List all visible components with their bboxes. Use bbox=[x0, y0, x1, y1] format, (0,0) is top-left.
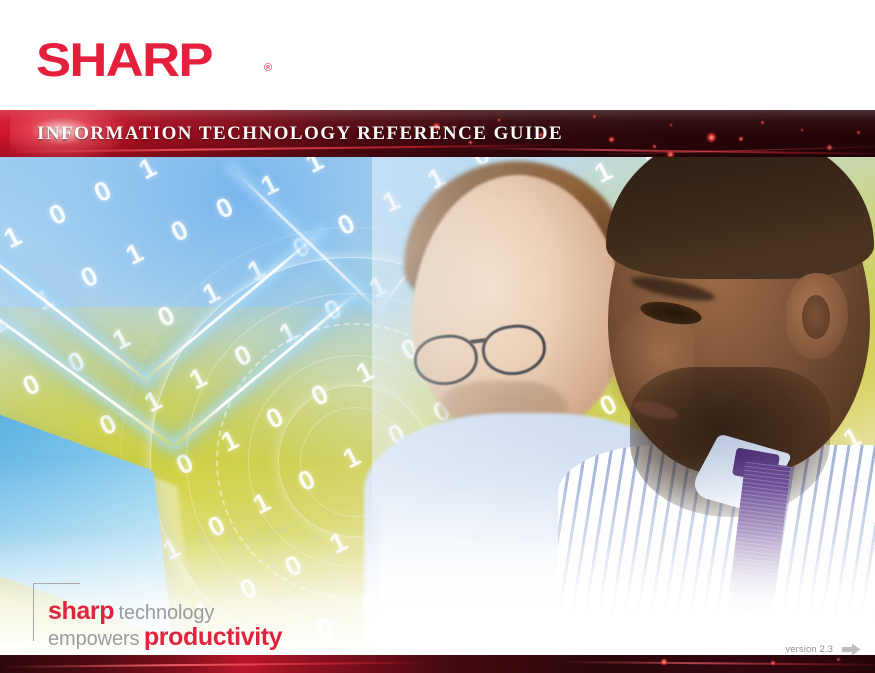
registered-trademark-icon: ® bbox=[264, 62, 272, 74]
banner-bokeh-dot bbox=[760, 120, 765, 125]
banner-bokeh-dot bbox=[706, 132, 717, 143]
footer-bokeh-dot bbox=[836, 657, 841, 662]
banner-bokeh-dot bbox=[652, 144, 657, 149]
sharp-logo: SHARP bbox=[36, 36, 212, 83]
hero-image: 1 0 1 0 0 1 1 0 1 0 0 1 0 1 1 0 0 1 1 0 … bbox=[0, 157, 875, 655]
version-label: version 2.3 bbox=[785, 644, 833, 655]
document-cover-page: SHARP ® INFORMATION TECHNOLOGY REFERENCE… bbox=[0, 0, 875, 673]
banner-bokeh-dot bbox=[669, 123, 673, 127]
banner-bokeh-dot bbox=[826, 144, 833, 151]
banner-light-streak bbox=[600, 146, 875, 155]
banner-bokeh-dot bbox=[738, 136, 744, 142]
footer-band bbox=[0, 655, 875, 673]
footer-bokeh-dot bbox=[660, 658, 668, 666]
footer-light-streak bbox=[560, 661, 875, 665]
footer-light-streak bbox=[0, 661, 430, 668]
banner-bokeh-dot bbox=[608, 136, 615, 143]
footer-bokeh-dot bbox=[770, 660, 776, 666]
hero-white-bloom bbox=[0, 457, 875, 655]
banner-bokeh-dot bbox=[592, 114, 597, 119]
banner-bokeh-dot bbox=[856, 130, 861, 135]
title-banner: INFORMATION TECHNOLOGY REFERENCE GUIDE bbox=[0, 110, 875, 158]
page-title: INFORMATION TECHNOLOGY REFERENCE GUIDE bbox=[37, 110, 563, 158]
ear-inner bbox=[802, 295, 830, 339]
banner-bokeh-dot bbox=[800, 128, 804, 132]
header-bar: SHARP ® bbox=[0, 0, 875, 110]
hair bbox=[606, 157, 874, 279]
